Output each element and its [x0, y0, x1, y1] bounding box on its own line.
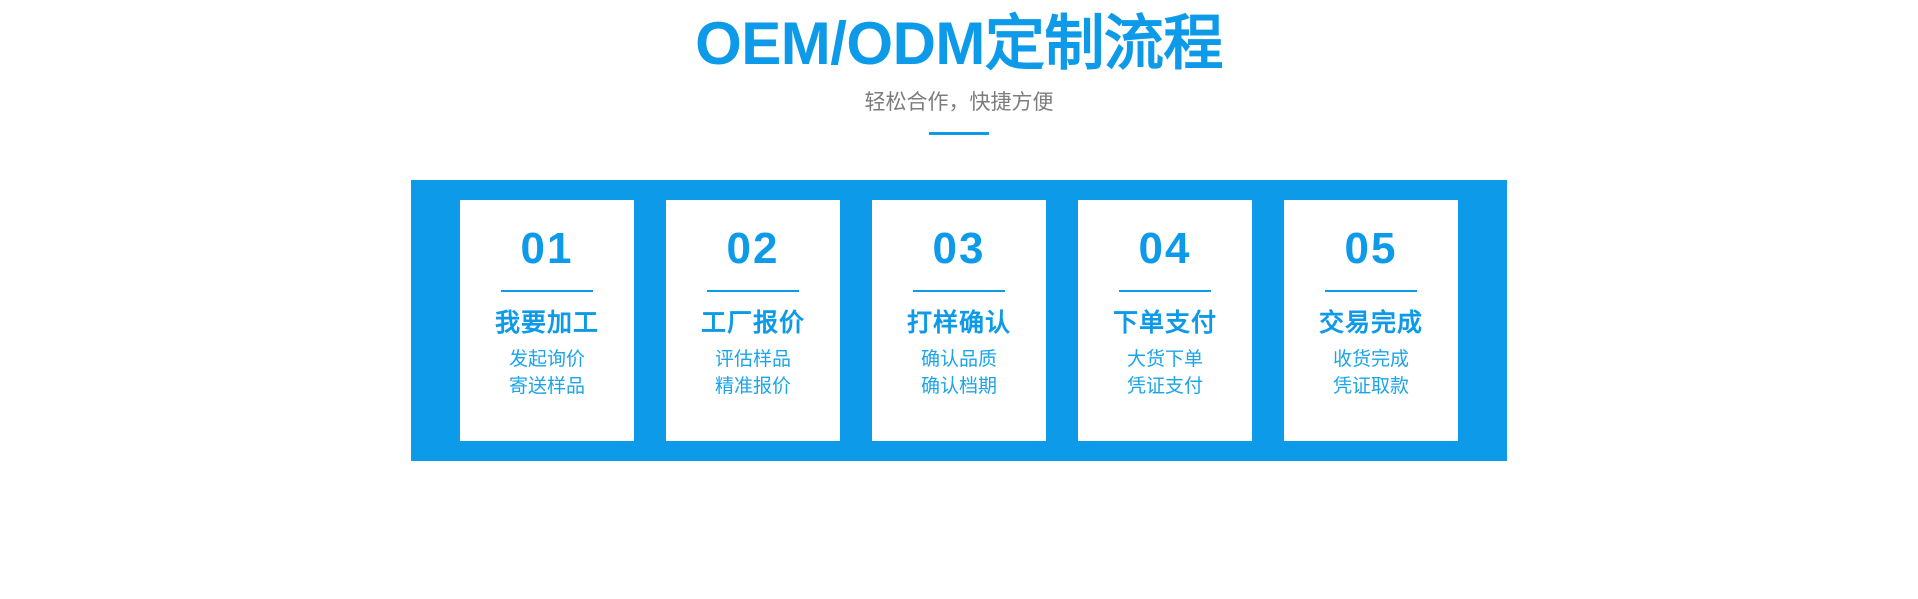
step-card-04[interactable]: 04 下单支付 大货下单 凭证支付 [1078, 200, 1252, 441]
step-rule-divider [1325, 290, 1417, 292]
step-desc-line-2: 精准报价 [715, 373, 791, 400]
step-desc-line-1: 发起询价 [509, 346, 585, 373]
step-number: 05 [1345, 224, 1398, 274]
step-desc-line-2: 凭证支付 [1127, 373, 1203, 400]
step-rule-divider [501, 290, 593, 292]
step-desc-line-2: 寄送样品 [509, 373, 585, 400]
step-number: 04 [1139, 224, 1192, 274]
step-rule-divider [1119, 290, 1211, 292]
process-steps-band: 01 我要加工 发起询价 寄送样品 02 工厂报价 评估样品 精准报价 03 打… [411, 180, 1507, 461]
step-card-05[interactable]: 05 交易完成 收货完成 凭证取款 [1284, 200, 1458, 441]
page-subtitle: 轻松合作，快捷方便 [0, 88, 1918, 118]
step-desc-line-2: 确认档期 [921, 373, 997, 400]
step-rule-divider [913, 290, 1005, 292]
step-number: 02 [727, 224, 780, 274]
step-desc-line-1: 大货下单 [1127, 346, 1203, 373]
step-rule-divider [707, 290, 799, 292]
oem-odm-process-banner: OEM/ODM定制流程 轻松合作，快捷方便 01 我要加工 发起询价 寄送样品 … [0, 0, 1918, 599]
step-title: 我要加工 [495, 306, 599, 340]
step-title: 打样确认 [907, 306, 1011, 340]
step-desc-line-2: 凭证取款 [1333, 373, 1409, 400]
banner-header: OEM/ODM定制流程 轻松合作，快捷方便 [0, 0, 1918, 135]
page-title: OEM/ODM定制流程 [0, 6, 1918, 82]
step-desc-line-1: 评估样品 [715, 346, 791, 373]
process-band-wrapper: 01 我要加工 发起询价 寄送样品 02 工厂报价 评估样品 精准报价 03 打… [0, 180, 1918, 461]
step-desc-line-1: 收货完成 [1333, 346, 1409, 373]
step-desc-line-1: 确认品质 [921, 346, 997, 373]
step-title: 交易完成 [1319, 306, 1423, 340]
step-card-03[interactable]: 03 打样确认 确认品质 确认档期 [872, 200, 1046, 441]
step-card-02[interactable]: 02 工厂报价 评估样品 精准报价 [666, 200, 840, 441]
step-title: 工厂报价 [701, 306, 805, 340]
step-title: 下单支付 [1113, 306, 1217, 340]
title-divider [929, 132, 989, 135]
step-number: 01 [521, 224, 574, 274]
step-number: 03 [933, 224, 986, 274]
step-card-01[interactable]: 01 我要加工 发起询价 寄送样品 [460, 200, 634, 441]
